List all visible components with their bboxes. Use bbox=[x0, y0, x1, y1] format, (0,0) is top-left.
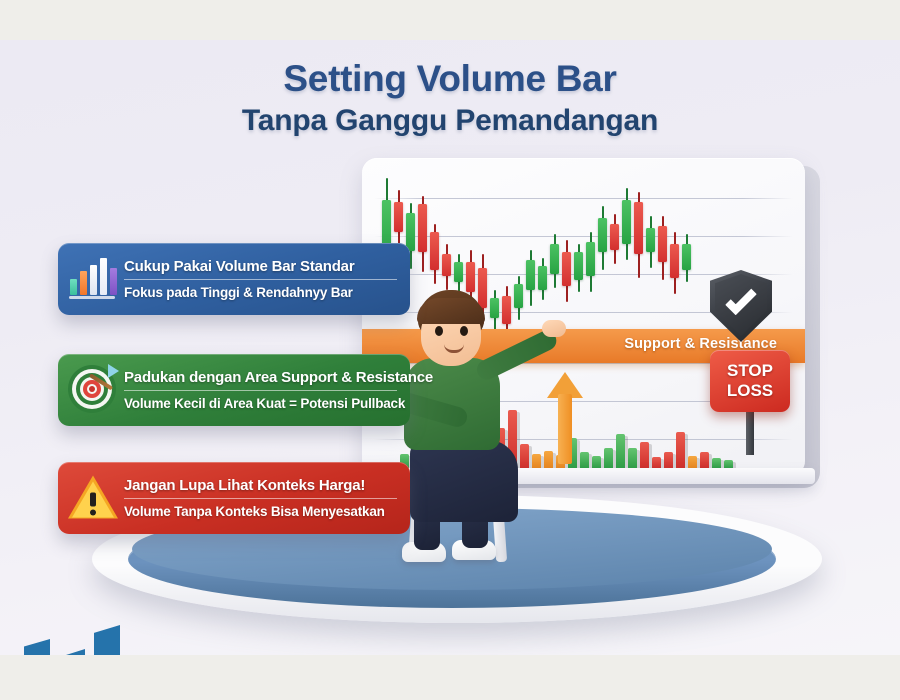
character-legs bbox=[410, 440, 518, 522]
shield-check-icon bbox=[710, 270, 772, 342]
stop-loss-line-1: STOP bbox=[727, 361, 773, 381]
gridline bbox=[374, 198, 793, 199]
candlestick bbox=[586, 232, 595, 292]
volume-bar bbox=[616, 434, 625, 468]
warning-triangle-icon bbox=[68, 476, 118, 521]
title-line-2: Tanpa Ganggu Pemandangan bbox=[0, 104, 900, 138]
volume-bar bbox=[628, 448, 637, 468]
candlestick bbox=[682, 234, 691, 282]
brand-logo[interactable] bbox=[24, 625, 120, 655]
volume-bar bbox=[652, 457, 661, 468]
character-eye-left bbox=[435, 326, 443, 336]
candlestick bbox=[442, 244, 451, 290]
card-heading: Padukan dengan Area Support & Resistance bbox=[124, 369, 397, 391]
card-heading: Cukup Pakai Volume Bar Standar bbox=[124, 258, 397, 280]
character-illustration bbox=[390, 290, 570, 580]
sign-post bbox=[746, 408, 754, 455]
candlestick bbox=[622, 188, 631, 260]
logo-bar-1 bbox=[24, 639, 50, 655]
volume-bar bbox=[592, 456, 601, 468]
volume-bar bbox=[664, 452, 673, 468]
card-subheading: Fokus pada Tinggi & Rendahnyy Bar bbox=[124, 285, 397, 300]
title-line-1: Setting Volume Bar bbox=[0, 58, 900, 100]
bar-chart-icon bbox=[68, 258, 116, 300]
stop-loss-plate: STOP LOSS bbox=[710, 350, 790, 412]
info-card-support-resistance[interactable]: Padukan dengan Area Support & Resistance… bbox=[58, 354, 410, 426]
poster-canvas: Setting Volume Bar Tanpa Ganggu Pemandan… bbox=[0, 40, 900, 655]
target-dart-icon bbox=[68, 365, 118, 415]
volume-bar bbox=[700, 452, 709, 468]
card-subheading: Volume Tanpa Konteks Bisa Menyesatkan bbox=[124, 504, 397, 519]
volume-bar bbox=[724, 460, 733, 468]
candlestick bbox=[634, 192, 643, 278]
poster-frame: Setting Volume Bar Tanpa Ganggu Pemandan… bbox=[0, 0, 900, 700]
info-card-price-context[interactable]: Jangan Lupa Lihat Konteks Harga! Volume … bbox=[58, 462, 410, 534]
volume-bar bbox=[712, 458, 721, 468]
candlestick bbox=[646, 216, 655, 268]
candlestick bbox=[658, 216, 667, 280]
volume-bar bbox=[640, 442, 649, 468]
logo-bar-2 bbox=[59, 647, 85, 655]
candlestick bbox=[598, 206, 607, 270]
candlestick bbox=[550, 234, 559, 288]
character-eye-right bbox=[460, 326, 468, 336]
volume-bar bbox=[604, 448, 613, 468]
character-hair-front bbox=[417, 298, 485, 324]
character-pointing-hand bbox=[542, 320, 566, 337]
stop-loss-line-2: LOSS bbox=[727, 381, 773, 401]
candlestick bbox=[430, 224, 439, 284]
candlestick bbox=[670, 232, 679, 294]
card-heading: Jangan Lupa Lihat Konteks Harga! bbox=[124, 477, 397, 499]
volume-bar bbox=[676, 432, 685, 468]
card-subheading: Volume Kecil di Area Kuat = Potensi Pull… bbox=[124, 396, 397, 411]
info-card-volume-bar[interactable]: Cukup Pakai Volume Bar Standar Fokus pad… bbox=[58, 243, 410, 315]
volume-bar bbox=[688, 456, 697, 468]
stop-loss-sign: STOP LOSS bbox=[710, 350, 792, 455]
candlestick bbox=[454, 254, 463, 294]
candlestick bbox=[418, 196, 427, 272]
logo-bar-3 bbox=[94, 625, 120, 655]
candlestick bbox=[610, 214, 619, 264]
candlestick bbox=[574, 244, 583, 292]
page-title: Setting Volume Bar Tanpa Ganggu Pemandan… bbox=[0, 58, 900, 138]
